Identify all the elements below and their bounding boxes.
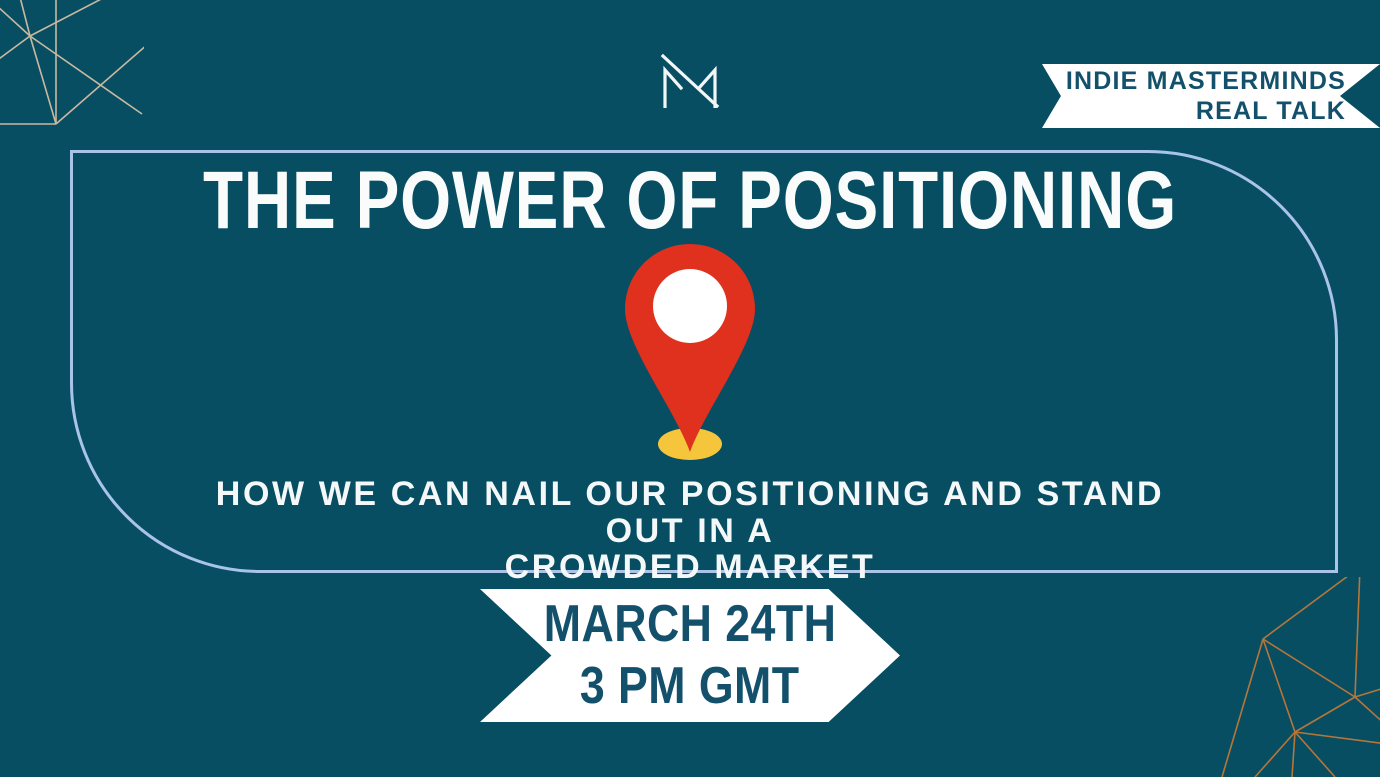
polygon-wireframe-decoration-top-left xyxy=(0,0,144,136)
series-ribbon: INDIE MASTERMINDS REAL TALK xyxy=(1042,64,1380,128)
ribbon-line-1: INDIE MASTERMINDS xyxy=(1066,66,1346,97)
ribbon-line-2: REAL TALK xyxy=(1196,96,1346,127)
event-date: MARCH 24TH xyxy=(544,594,837,656)
map-pin-icon xyxy=(625,244,755,462)
polygon-wireframe-decoration-bottom-right xyxy=(1200,577,1380,777)
subtitle-line-2: CROWDED MARKET xyxy=(190,549,1190,586)
monogram-m-logo xyxy=(655,46,725,108)
event-date-banner: MARCH 24TH 3 PM GMT xyxy=(480,589,900,722)
event-time: 3 PM GMT xyxy=(580,656,800,718)
page-title: THE POWER OF POSITIONING xyxy=(138,160,1242,242)
page-subtitle: HOW WE CAN NAIL OUR POSITIONING AND STAN… xyxy=(190,476,1190,586)
webinar-announcement-poster: INDIE MASTERMINDS REAL TALK THE POWER OF… xyxy=(0,0,1380,777)
subtitle-line-1: HOW WE CAN NAIL OUR POSITIONING AND STAN… xyxy=(190,476,1190,549)
